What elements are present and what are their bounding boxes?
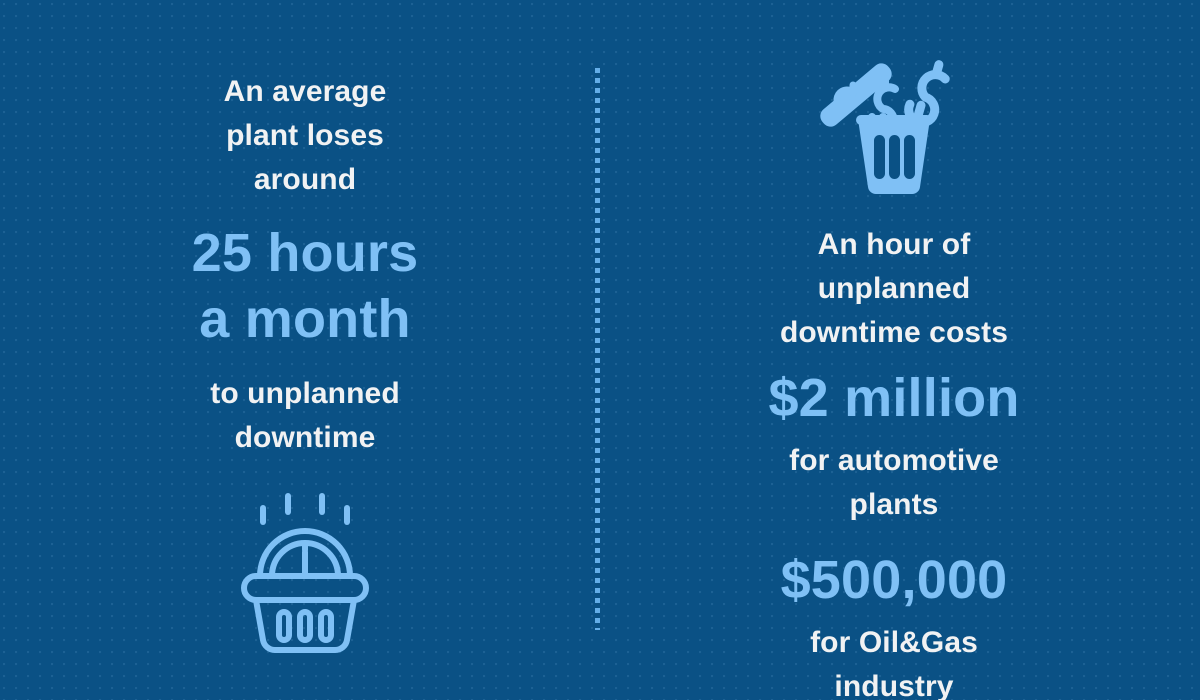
left-headline-value: 25 hours a month [192,220,419,352]
downtime-infographic: An average plant loses around 25 hours a… [0,0,1200,700]
right-intro-text: An hour of unplanned downtime costs [780,223,1008,355]
left-stat-panel: An average plant loses around 25 hours a… [60,0,550,700]
left-intro-text: An average plant loses around [224,70,387,202]
right-stat-panel: An hour of unplanned downtime costs $2 m… [648,0,1140,700]
left-outro-text: to unplanned downtime [210,372,400,460]
right-stat-caption-1: for automotive plants [789,439,999,527]
right-stat-value-2: $500,000 [781,549,1008,611]
money-in-trash-bin-icon [819,57,969,197]
vertical-dotted-divider [595,68,600,630]
right-stat-value-1: $2 million [768,367,1019,429]
right-stat-caption-2: for Oil&Gas industry [810,621,978,700]
clock-in-trash-bin-icon [230,490,380,655]
